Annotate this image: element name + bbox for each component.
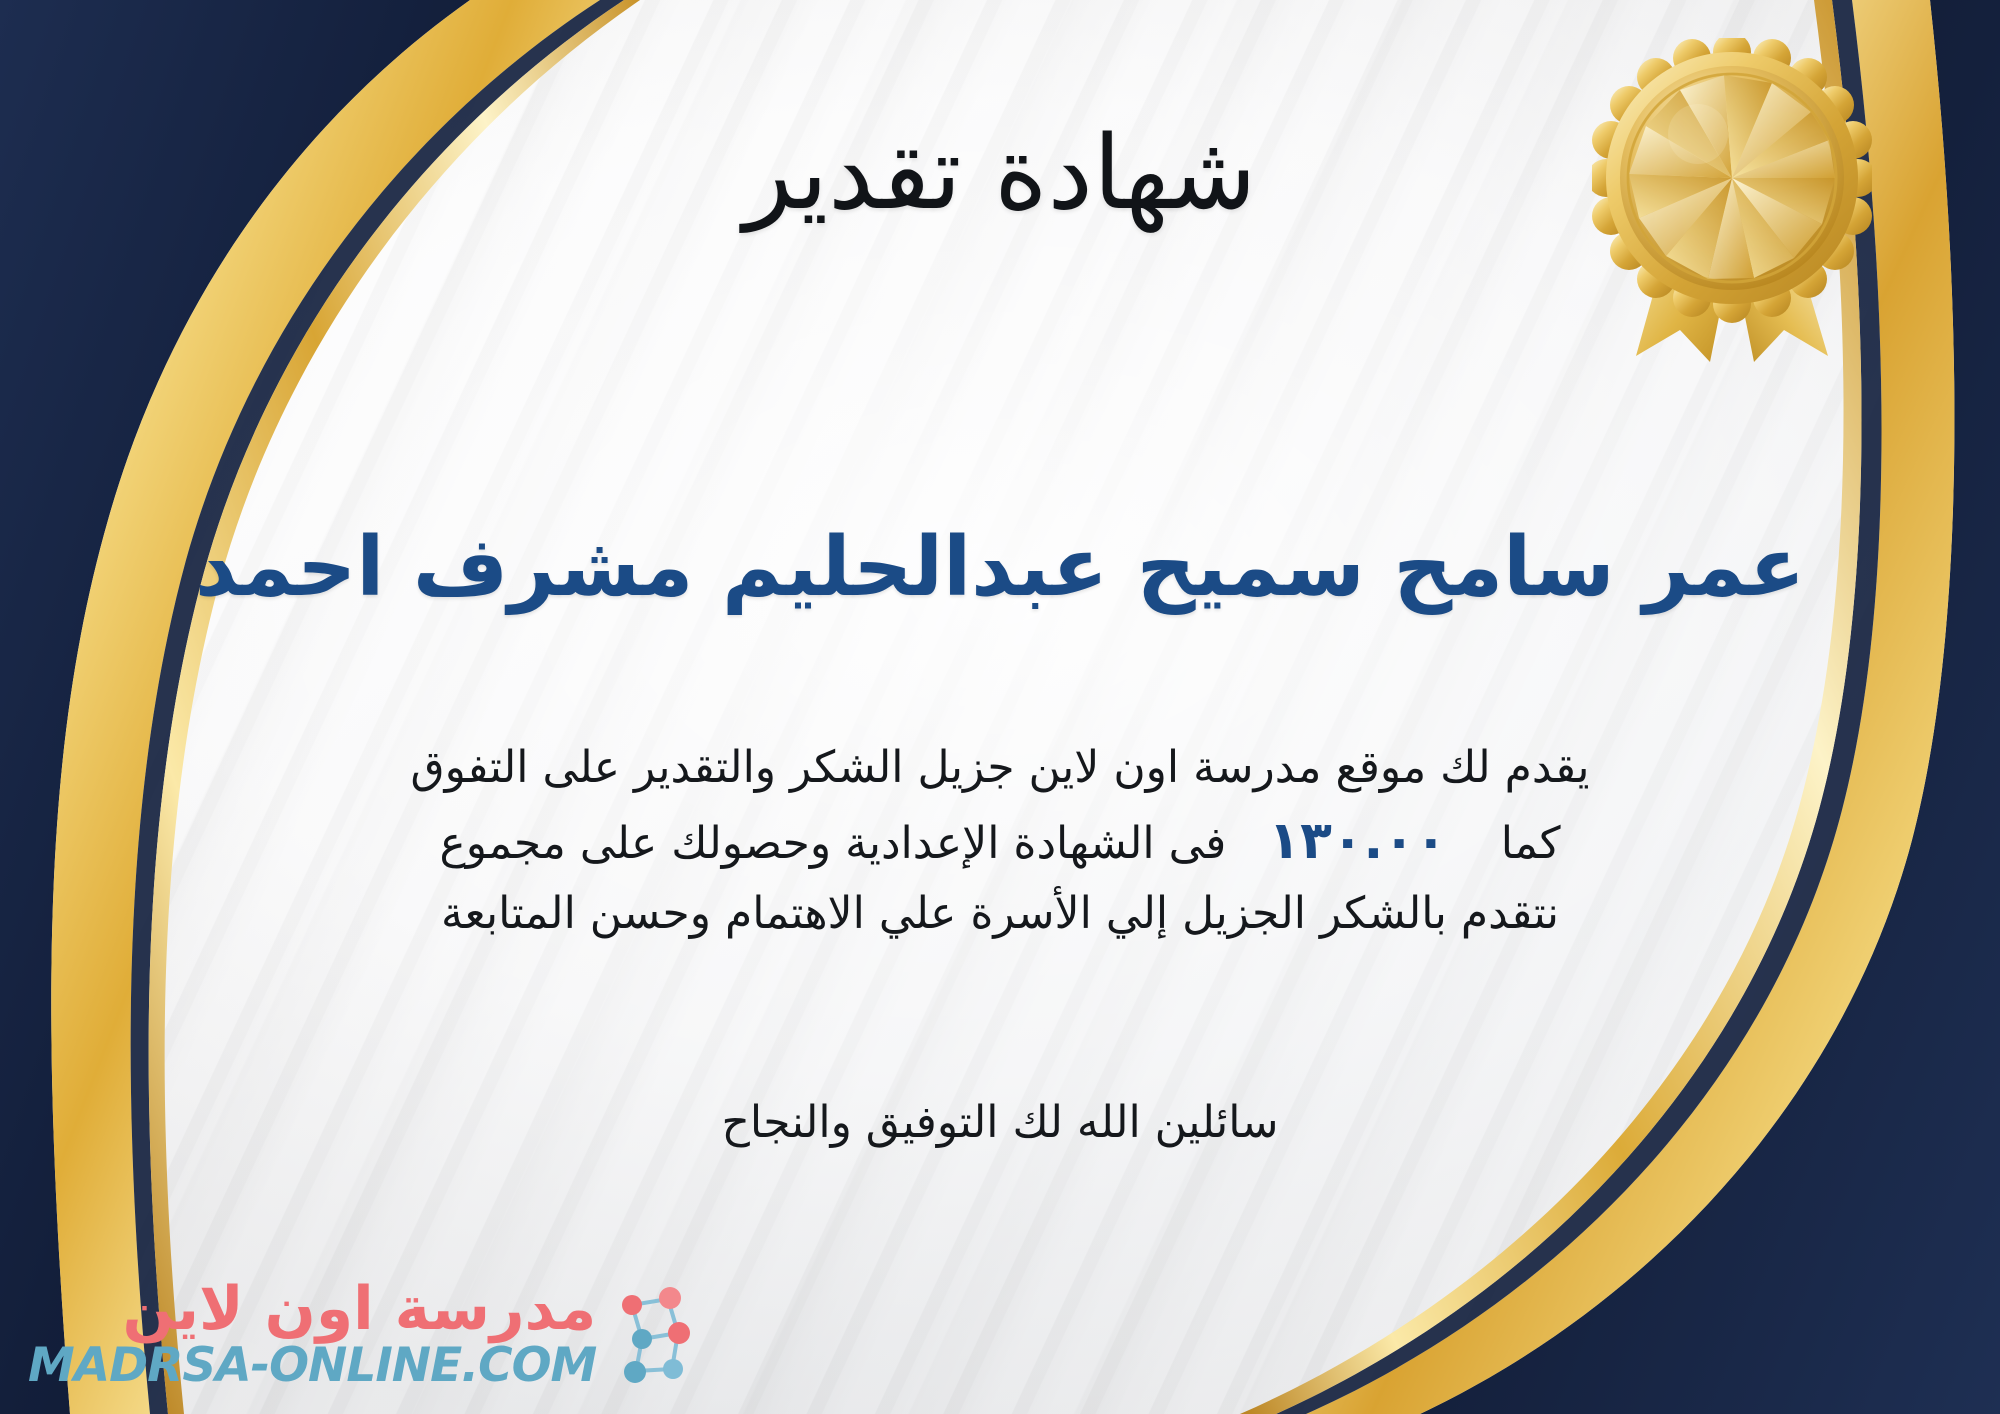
certificate-body: يقدم لك موقع مدرسة اون لاين جزيل الشكر و… <box>300 735 1700 948</box>
body-line-2: كما ١٣٠.٠٠ فى الشهادة الإعدادية وحصولك ع… <box>300 802 1700 881</box>
recipient-name: عمر سامح سميح عبدالحليم مشرف احمد <box>0 520 2000 617</box>
body-line-3: نتقدم بالشكر الجزيل إلي الأسرة علي الاهت… <box>300 881 1700 948</box>
network-nodes-logo-icon <box>606 1283 702 1387</box>
brand-logo-text: مدرسة اون لاين MADRSA-ONLINE.COM <box>28 1279 596 1390</box>
certificate-title: شهادة تقدير <box>0 118 2000 230</box>
brand-arabic-name: مدرسة اون لاين <box>123 1279 597 1340</box>
body-line-2-suffix: كما <box>1501 811 1561 878</box>
certificate-page: شهادة تقدير عمر سامح سميح عبدالحليم مشرف… <box>0 0 2000 1414</box>
grade-total-value: ١٣٠.٠٠ <box>1268 802 1446 881</box>
brand-website: MADRSA-ONLINE.COM <box>28 1341 596 1390</box>
closing-line: سائلين الله لك التوفيق والنجاح <box>0 1090 2000 1156</box>
certificate-content: شهادة تقدير عمر سامح سميح عبدالحليم مشرف… <box>0 0 2000 1414</box>
body-line-1: يقدم لك موقع مدرسة اون لاين جزيل الشكر و… <box>300 735 1700 802</box>
brand-logo[interactable]: مدرسة اون لاين MADRSA-ONLINE.COM <box>28 1279 702 1390</box>
body-line-2-prefix: فى الشهادة الإعدادية وحصولك على مجموع <box>439 811 1226 878</box>
